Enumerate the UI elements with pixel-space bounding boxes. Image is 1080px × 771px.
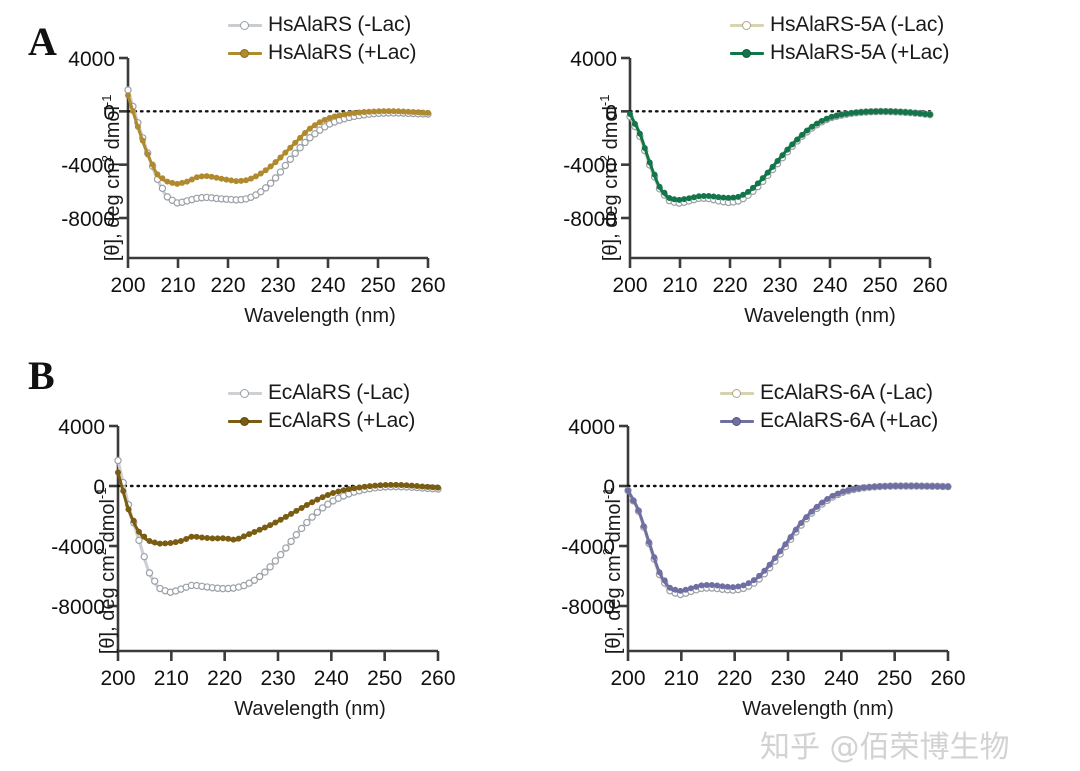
y-axis-label: [θ], deg cm2 dmol-1 [597, 63, 623, 293]
x-tick-label: 250 [877, 667, 912, 690]
legend-label: HsAlaRS (+Lac) [268, 41, 416, 65]
panel-a-left: HsAlaRS (-Lac) HsAlaRS (+Lac) [θ], deg c… [0, 0, 540, 340]
legend-swatch-solid-circle-icon [228, 46, 262, 60]
legend-swatch-dotted-circle-icon [228, 386, 262, 400]
legend-item: EcAlaRS-6A (-Lac) [720, 380, 938, 406]
x-tick-label: 250 [360, 274, 395, 297]
x-tick-label: 240 [314, 667, 349, 690]
x-tick-label: 210 [154, 667, 189, 690]
x-tick-label: 250 [862, 274, 897, 297]
x-tick-label: 210 [160, 274, 195, 297]
x-tick-label: 230 [260, 274, 295, 297]
x-tick-label: 220 [712, 274, 747, 297]
legend-swatch-solid-circle-icon [730, 46, 764, 60]
x-tick-label: 230 [260, 667, 295, 690]
legend-item: HsAlaRS (+Lac) [228, 40, 416, 66]
legend-label: EcAlaRS (-Lac) [268, 381, 410, 405]
x-tick-label: 210 [662, 274, 697, 297]
y-axis-label: [θ], deg cm2 dmol-1 [94, 456, 120, 686]
legend-swatch-dotted-circle-icon [228, 18, 262, 32]
data-series [626, 484, 951, 594]
data-series [125, 87, 431, 206]
panel-a-right: HsAlaRS-5A (-Lac) HsAlaRS-5A (+Lac) [θ],… [540, 0, 1080, 340]
legend-label: EcAlaRS-6A (+Lac) [760, 409, 938, 433]
data-series [116, 470, 441, 546]
legend-swatch-solid-circle-icon [228, 414, 262, 428]
data-series [115, 457, 441, 595]
x-axis-label: Wavelength (nm) [650, 305, 990, 328]
x-tick-label: 260 [912, 274, 947, 297]
x-tick-label: 260 [930, 667, 965, 690]
legend-item: HsAlaRS-5A (+Lac) [730, 40, 949, 66]
x-tick-label: 220 [207, 667, 242, 690]
legend-label: HsAlaRS (-Lac) [268, 13, 411, 37]
y-tick-label: 4000 [58, 416, 105, 439]
x-tick-label: 240 [824, 667, 859, 690]
panel-b-left: EcAlaRS (-Lac) EcAlaRS (+Lac) [θ], deg c… [0, 368, 540, 748]
legend-item: EcAlaRS (+Lac) [228, 408, 415, 434]
y-axis-label: [θ], deg cm2 dmol-1 [99, 63, 125, 293]
x-tick-label: 260 [410, 274, 445, 297]
x-axis-label: Wavelength (nm) [140, 698, 480, 721]
legend-label: EcAlaRS-6A (-Lac) [760, 381, 933, 405]
y-tick-label: 4000 [568, 416, 615, 439]
legend-item: HsAlaRS (-Lac) [228, 12, 416, 38]
cd-spectra-figure: A B HsAlaRS (-Lac) HsAlaRS (+Lac) [θ], d… [0, 0, 1080, 771]
legend-swatch-dotted-circle-icon [730, 18, 764, 32]
legend-panel-b-right: EcAlaRS-6A (-Lac) EcAlaRS-6A (+Lac) [720, 380, 938, 434]
x-tick-label: 240 [812, 274, 847, 297]
legend-panel-a-right: HsAlaRS-5A (-Lac) HsAlaRS-5A (+Lac) [730, 12, 949, 66]
y-axis-label: [θ], deg cm2 dmol-1 [600, 456, 626, 686]
x-tick-label: 250 [367, 667, 402, 690]
legend-label: HsAlaRS-5A (-Lac) [770, 13, 944, 37]
x-tick-label: 210 [664, 667, 699, 690]
x-tick-label: 260 [420, 667, 455, 690]
panel-b-right: EcAlaRS-6A (-Lac) EcAlaRS-6A (+Lac) [θ],… [540, 368, 1080, 748]
x-tick-label: 220 [210, 274, 245, 297]
x-tick-label: 220 [717, 667, 752, 690]
legend-panel-a-left: HsAlaRS (-Lac) HsAlaRS (+Lac) [228, 12, 416, 66]
legend-label: HsAlaRS-5A (+Lac) [770, 41, 949, 65]
legend-swatch-dotted-circle-icon [720, 386, 754, 400]
legend-item: HsAlaRS-5A (-Lac) [730, 12, 949, 38]
legend-swatch-solid-circle-icon [720, 414, 754, 428]
x-tick-label: 240 [310, 274, 345, 297]
legend-item: EcAlaRS-6A (+Lac) [720, 408, 938, 434]
legend-panel-b-left: EcAlaRS (-Lac) EcAlaRS (+Lac) [228, 380, 415, 434]
x-tick-label: 230 [770, 667, 805, 690]
legend-item: EcAlaRS (-Lac) [228, 380, 415, 406]
legend-label: EcAlaRS (+Lac) [268, 409, 415, 433]
data-series [628, 109, 933, 203]
x-tick-label: 230 [762, 274, 797, 297]
x-axis-label: Wavelength (nm) [150, 305, 490, 328]
x-axis-label: Wavelength (nm) [648, 698, 988, 721]
